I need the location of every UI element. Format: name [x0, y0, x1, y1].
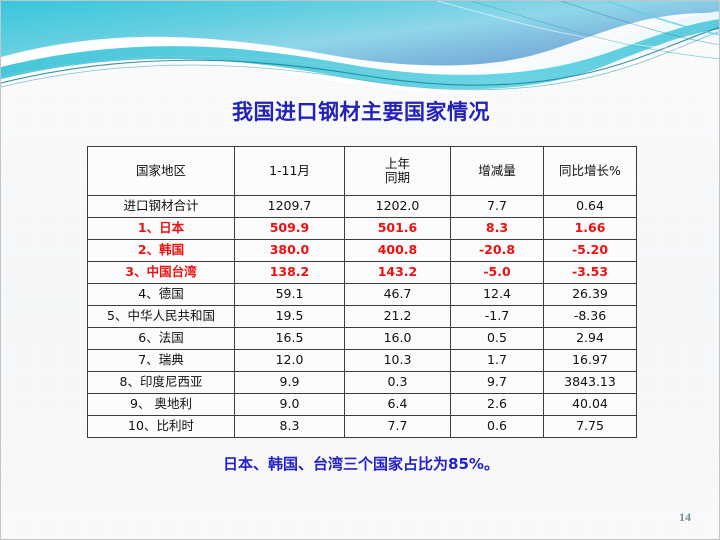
cell-previous-period: 6.4	[345, 394, 451, 416]
cell-current-period: 9.9	[235, 372, 345, 394]
cell-current-period: 16.5	[235, 328, 345, 350]
cell-change-amount: -5.0	[451, 262, 544, 284]
cell-current-period: 380.0	[235, 240, 345, 262]
cell-yoy-growth-pct: 2.94	[544, 328, 637, 350]
cell-country: 7、瑞典	[88, 350, 235, 372]
cell-country: 9、 奥地利	[88, 394, 235, 416]
cell-previous-period: 21.2	[345, 306, 451, 328]
cell-country: 6、法国	[88, 328, 235, 350]
cell-previous-period: 46.7	[345, 284, 451, 306]
table-row: 9、 奥地利9.06.42.640.04	[88, 394, 637, 416]
table-body: 进口钢材合计1209.71202.07.70.641、日本509.9501.68…	[88, 196, 637, 438]
cell-previous-period: 16.0	[345, 328, 451, 350]
cell-yoy-growth-pct: 3843.13	[544, 372, 637, 394]
cell-previous-period: 1202.0	[345, 196, 451, 218]
cell-current-period: 509.9	[235, 218, 345, 240]
table-row: 2、韩国380.0400.8-20.8-5.20	[88, 240, 637, 262]
cell-country: 2、韩国	[88, 240, 235, 262]
cell-current-period: 19.5	[235, 306, 345, 328]
slide-canvas: 我国进口钢材主要国家情况 国家地区 1-11月 上年 同期 增减量 同比增长% …	[0, 0, 720, 540]
cell-change-amount: 1.7	[451, 350, 544, 372]
table-row: 进口钢材合计1209.71202.07.70.64	[88, 196, 637, 218]
table-row: 3、中国台湾138.2143.2-5.0-3.53	[88, 262, 637, 284]
page-title: 我国进口钢材主要国家情况	[1, 96, 720, 126]
cell-current-period: 138.2	[235, 262, 345, 284]
cell-current-period: 12.0	[235, 350, 345, 372]
steel-import-table: 国家地区 1-11月 上年 同期 增减量 同比增长% 进口钢材合计1209.71…	[87, 146, 637, 438]
cell-yoy-growth-pct: -3.53	[544, 262, 637, 284]
column-header-previous-period: 上年 同期	[345, 147, 451, 196]
cell-yoy-growth-pct: -8.36	[544, 306, 637, 328]
cell-current-period: 1209.7	[235, 196, 345, 218]
cell-change-amount: 8.3	[451, 218, 544, 240]
cell-yoy-growth-pct: -5.20	[544, 240, 637, 262]
cell-change-amount: 0.6	[451, 416, 544, 438]
table-header-row: 国家地区 1-11月 上年 同期 增减量 同比增长%	[88, 147, 637, 196]
cell-country: 3、中国台湾	[88, 262, 235, 284]
table-row: 7、瑞典12.010.31.716.97	[88, 350, 637, 372]
cell-previous-period: 10.3	[345, 350, 451, 372]
table-row: 6、法国16.516.00.52.94	[88, 328, 637, 350]
table-row: 8、印度尼西亚9.90.39.73843.13	[88, 372, 637, 394]
cell-change-amount: -20.8	[451, 240, 544, 262]
column-header-previous-period-line2: 同期	[345, 171, 450, 185]
cell-yoy-growth-pct: 0.64	[544, 196, 637, 218]
cell-previous-period: 143.2	[345, 262, 451, 284]
table-header: 国家地区 1-11月 上年 同期 增减量 同比增长%	[88, 147, 637, 196]
summary-footnote: 日本、韩国、台湾三个国家占比为85%。	[1, 453, 720, 474]
cell-previous-period: 400.8	[345, 240, 451, 262]
cell-previous-period: 501.6	[345, 218, 451, 240]
cell-country: 进口钢材合计	[88, 196, 235, 218]
cell-previous-period: 0.3	[345, 372, 451, 394]
column-header-previous-period-line1: 上年	[345, 157, 450, 171]
column-header-country: 国家地区	[88, 147, 235, 196]
cell-country: 4、德国	[88, 284, 235, 306]
table-row: 5、中华人民共和国19.521.2-1.7-8.36	[88, 306, 637, 328]
cell-yoy-growth-pct: 7.75	[544, 416, 637, 438]
cell-change-amount: 9.7	[451, 372, 544, 394]
table-row: 10、比利时8.37.70.67.75	[88, 416, 637, 438]
cell-country: 5、中华人民共和国	[88, 306, 235, 328]
cell-yoy-growth-pct: 26.39	[544, 284, 637, 306]
cell-previous-period: 7.7	[345, 416, 451, 438]
cell-current-period: 8.3	[235, 416, 345, 438]
cell-yoy-growth-pct: 16.97	[544, 350, 637, 372]
header-banner-decoration	[1, 1, 720, 97]
cell-change-amount: -1.7	[451, 306, 544, 328]
table-row: 4、德国59.146.712.426.39	[88, 284, 637, 306]
cell-yoy-growth-pct: 40.04	[544, 394, 637, 416]
cell-change-amount: 12.4	[451, 284, 544, 306]
cell-change-amount: 0.5	[451, 328, 544, 350]
steel-import-table-wrapper: 国家地区 1-11月 上年 同期 增减量 同比增长% 进口钢材合计1209.71…	[87, 146, 636, 438]
cell-country: 1、日本	[88, 218, 235, 240]
cell-current-period: 9.0	[235, 394, 345, 416]
cell-country: 10、比利时	[88, 416, 235, 438]
cell-current-period: 59.1	[235, 284, 345, 306]
cell-yoy-growth-pct: 1.66	[544, 218, 637, 240]
cell-change-amount: 2.6	[451, 394, 544, 416]
cell-country: 8、印度尼西亚	[88, 372, 235, 394]
column-header-yoy-growth-pct: 同比增长%	[544, 147, 637, 196]
page-number: 14	[679, 510, 691, 525]
table-row: 1、日本509.9501.68.31.66	[88, 218, 637, 240]
cell-change-amount: 7.7	[451, 196, 544, 218]
column-header-change-amount: 增减量	[451, 147, 544, 196]
column-header-current-period: 1-11月	[235, 147, 345, 196]
